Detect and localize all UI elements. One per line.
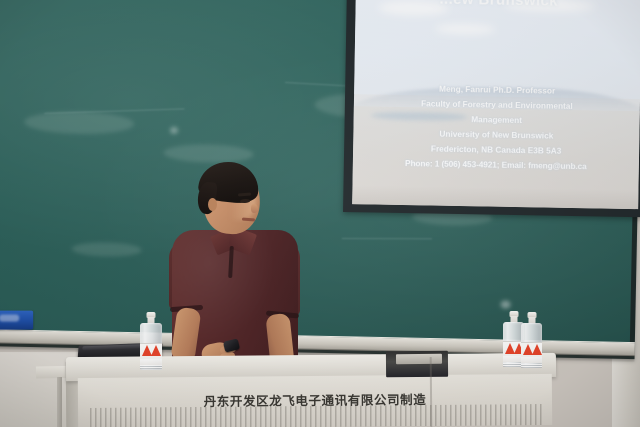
bottle-label (521, 342, 542, 357)
side-table-leg (57, 377, 62, 427)
projected-slide: ...ew Brunswick Meng, Fanrui Ph.D. Profe… (352, 0, 640, 209)
water-bottle-left (140, 312, 162, 370)
bottle-ribs (521, 364, 542, 369)
eraser-chalk-mark (0, 315, 19, 322)
bottle-body (521, 323, 542, 368)
chalkboard-eraser (0, 311, 33, 330)
water-bottle-right-b (521, 312, 542, 368)
bottle-body (140, 323, 162, 370)
eye (240, 199, 250, 203)
podium-vent-grille (90, 404, 542, 427)
projection-screen: ...ew Brunswick Meng, Fanrui Ph.D. Profe… (343, 0, 640, 217)
bottle-label (140, 343, 162, 359)
bottle-label-lower (140, 359, 162, 366)
bottle-ribs (140, 365, 162, 370)
ear (208, 198, 217, 211)
podium-lock-plate (396, 354, 442, 364)
lecture-photo-scene: ...ew Brunswick Meng, Fanrui Ph.D. Profe… (0, 0, 640, 427)
nose (251, 204, 258, 213)
slide-body-text: Meng, Fanrui Ph.D. Professor Faculty of … (353, 80, 640, 175)
presenter (172, 160, 298, 370)
